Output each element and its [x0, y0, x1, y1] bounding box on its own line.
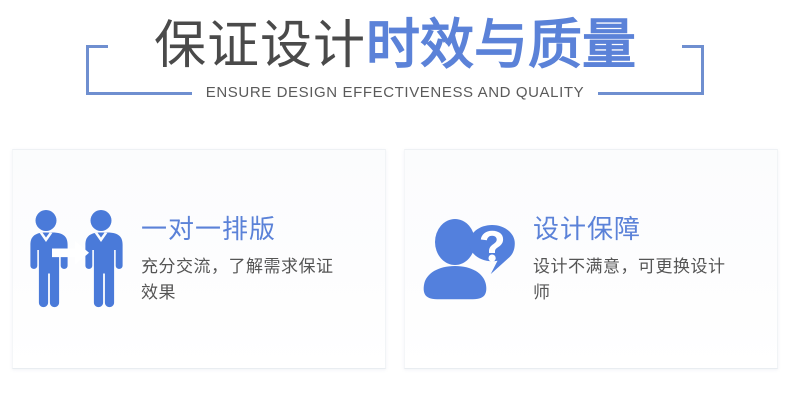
- feature-card-one-on-one[interactable]: 一对一排版 充分交流，了解需求保证效果: [12, 149, 386, 369]
- feature-card-design-guarantee-title: 设计保障: [533, 213, 763, 246]
- feature-card-design-guarantee-text: 设计保障 设计不满意，可更换设计师: [533, 213, 777, 306]
- page-title-dark-part: 保证设计: [154, 17, 366, 75]
- feature-card-list: 一对一排版 充分交流，了解需求保证效果: [0, 149, 790, 369]
- feature-card-one-on-one-text: 一对一排版 充分交流，了解需求保证效果: [141, 213, 385, 306]
- feature-card-design-guarantee[interactable]: 设计保障 设计不满意，可更换设计师: [404, 149, 778, 369]
- feature-card-one-on-one-title: 一对一排版: [141, 213, 371, 246]
- page-title-blue-part: 时效与质量: [366, 15, 636, 75]
- person-question-bubble-icon: [405, 213, 533, 305]
- feature-card-design-guarantee-desc: 设计不满意，可更换设计师: [533, 254, 733, 305]
- page-subtitle-text: ENSURE DESIGN EFFECTIVENESS AND QUALITY: [192, 84, 598, 101]
- feature-card-one-on-one-desc: 充分交流，了解需求保证效果: [141, 254, 341, 305]
- two-people-handoff-icon: [13, 209, 141, 309]
- page-subtitle: ENSURE DESIGN EFFECTIVENESS AND QUALITY: [0, 84, 790, 101]
- page-header: 保证设计时效与质量 ENSURE DESIGN EFFECTIVENESS AN…: [0, 0, 790, 135]
- page-title: 保证设计时效与质量: [0, 18, 790, 72]
